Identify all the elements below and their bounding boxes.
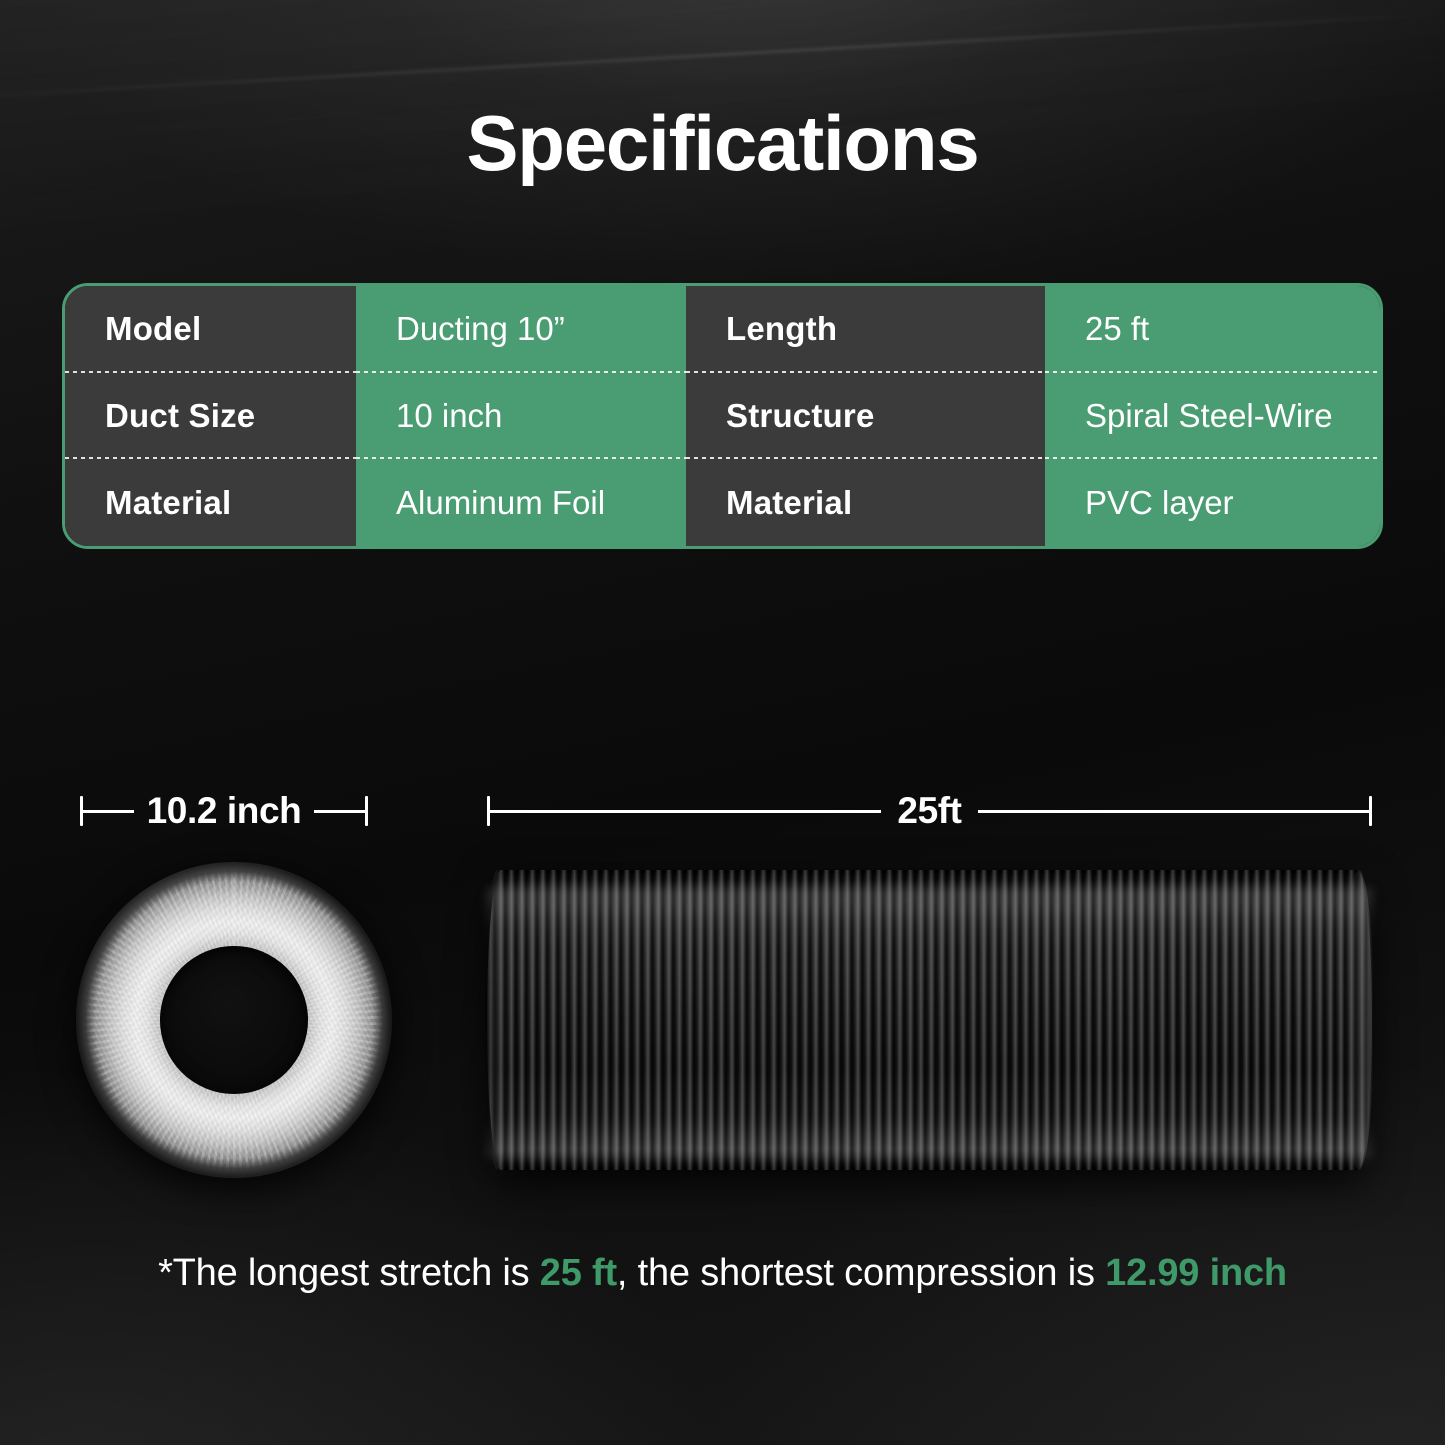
diameter-dimension: 10.2 inch <box>80 788 368 834</box>
table-row: Structure <box>686 373 1045 460</box>
duct-cross-section-image <box>76 862 392 1178</box>
table-row: Material <box>65 459 356 546</box>
length-dimension: 25ft <box>487 788 1372 834</box>
table-row: 10 inch <box>356 373 686 460</box>
length-rule-left <box>490 810 881 813</box>
table-row: 25 ft <box>1045 286 1380 373</box>
table-row: Duct Size <box>65 373 356 460</box>
footnote-compression-value: 12.99 inch <box>1105 1252 1287 1294</box>
footnote-middle: , the shortest compression is <box>617 1252 1105 1294</box>
background-top-edge-highlight <box>0 5 1445 101</box>
specifications-table: Model Ducting 10” Length 25 ft Duct Size… <box>62 283 1383 549</box>
product-illustration: 10.2 inch 25ft <box>0 760 1445 1220</box>
footnote-stretch-value: 25 ft <box>540 1252 617 1294</box>
duct-corrugation <box>487 870 1372 1170</box>
dimension-rule-right <box>314 810 365 813</box>
length-label: 25ft <box>881 790 977 832</box>
dimension-endcap-right-icon <box>365 796 368 826</box>
table-row: Model <box>65 286 356 373</box>
table-row: Aluminum Foil <box>356 459 686 546</box>
table-row: Length <box>686 286 1045 373</box>
duct-inner-bore <box>160 946 309 1095</box>
duct-tube-image <box>487 870 1372 1170</box>
product-spec-page: Specifications Model Ducting 10” Length … <box>0 0 1445 1445</box>
table-row: PVC layer <box>1045 459 1380 546</box>
length-endcap-right-icon <box>1369 796 1372 826</box>
table-row: Ducting 10” <box>356 286 686 373</box>
dimension-rule-left <box>83 810 134 813</box>
diameter-label: 10.2 inch <box>134 790 315 832</box>
footnote: *The longest stretch is 25 ft, the short… <box>0 1252 1445 1295</box>
length-rule-right <box>978 810 1369 813</box>
table-row: Material <box>686 459 1045 546</box>
footnote-prefix: *The longest stretch is <box>158 1252 540 1294</box>
table-row: Spiral Steel-Wire <box>1045 373 1380 460</box>
page-title: Specifications <box>0 104 1445 182</box>
